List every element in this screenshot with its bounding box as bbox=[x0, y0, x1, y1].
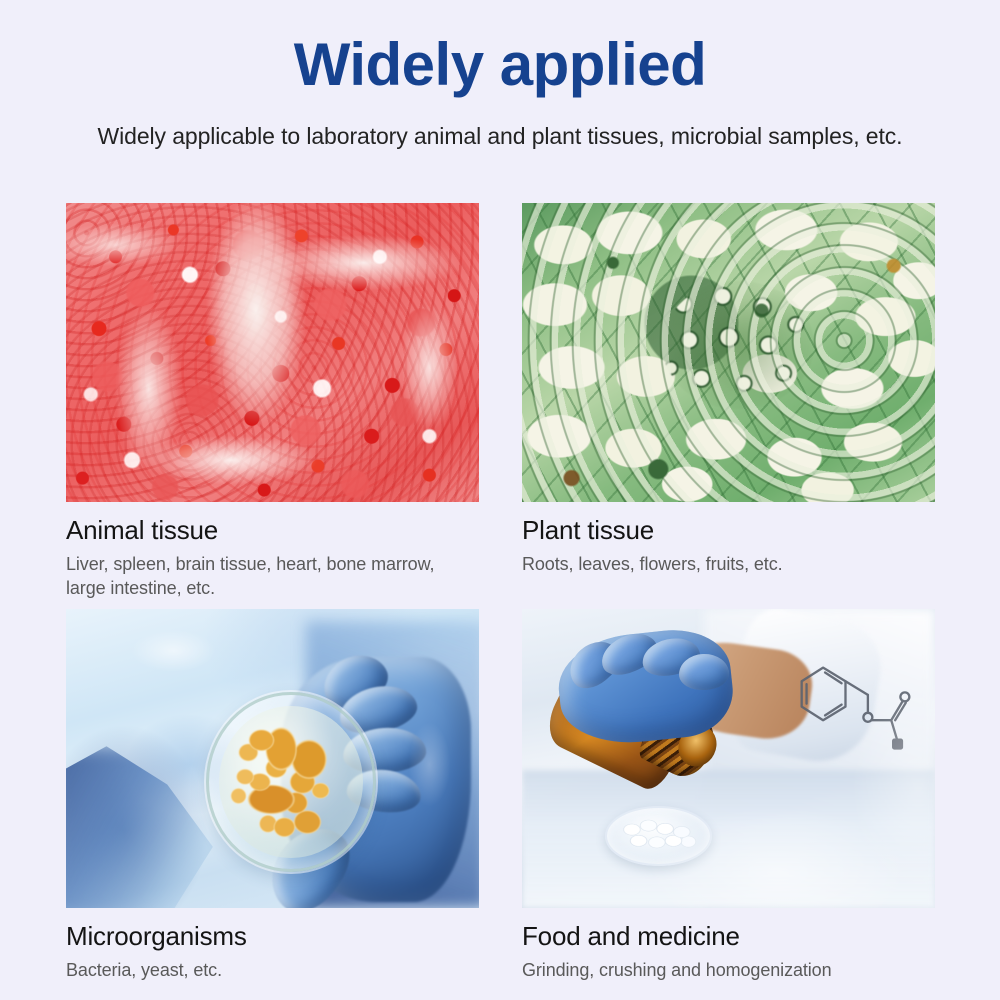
card-title-plant-tissue: Plant tissue bbox=[522, 516, 935, 546]
card-title-food-and-medicine: Food and medicine bbox=[522, 922, 935, 952]
widely-applied-page: Widely applied Widely applicable to labo… bbox=[0, 0, 1000, 1000]
card-animal-tissue: Animal tissue Liver, spleen, brain tissu… bbox=[66, 203, 479, 601]
card-description-animal-tissue: Liver, spleen, brain tissue, heart, bone… bbox=[66, 553, 466, 601]
animal-tissue-histology-micrograph bbox=[66, 203, 479, 502]
lighting-glare bbox=[66, 609, 479, 908]
application-card-grid: Animal tissue Liver, spleen, brain tissu… bbox=[66, 203, 935, 983]
plant-tissue-cross-section-micrograph bbox=[522, 203, 935, 502]
card-food-and-medicine: Food and medicine Grinding, crushing and… bbox=[522, 609, 935, 983]
card-title-microorganisms: Microorganisms bbox=[66, 922, 479, 952]
food-and-medicine-pills-photo bbox=[522, 609, 935, 908]
microorganisms-petri-dish-photo bbox=[66, 609, 479, 908]
card-title-animal-tissue: Animal tissue bbox=[66, 516, 479, 546]
card-description-microorganisms: Bacteria, yeast, etc. bbox=[66, 959, 466, 983]
lighting-haze bbox=[522, 609, 935, 908]
card-plant-tissue: Plant tissue Roots, leaves, flowers, fru… bbox=[522, 203, 935, 601]
card-description-food-and-medicine: Grinding, crushing and homogenization bbox=[522, 959, 922, 983]
page-subtitle: Widely applicable to laboratory animal a… bbox=[0, 123, 1000, 150]
card-description-plant-tissue: Roots, leaves, flowers, fruits, etc. bbox=[522, 553, 922, 577]
card-microorganisms: Microorganisms Bacteria, yeast, etc. bbox=[66, 609, 479, 983]
page-title: Widely applied bbox=[0, 32, 1000, 98]
